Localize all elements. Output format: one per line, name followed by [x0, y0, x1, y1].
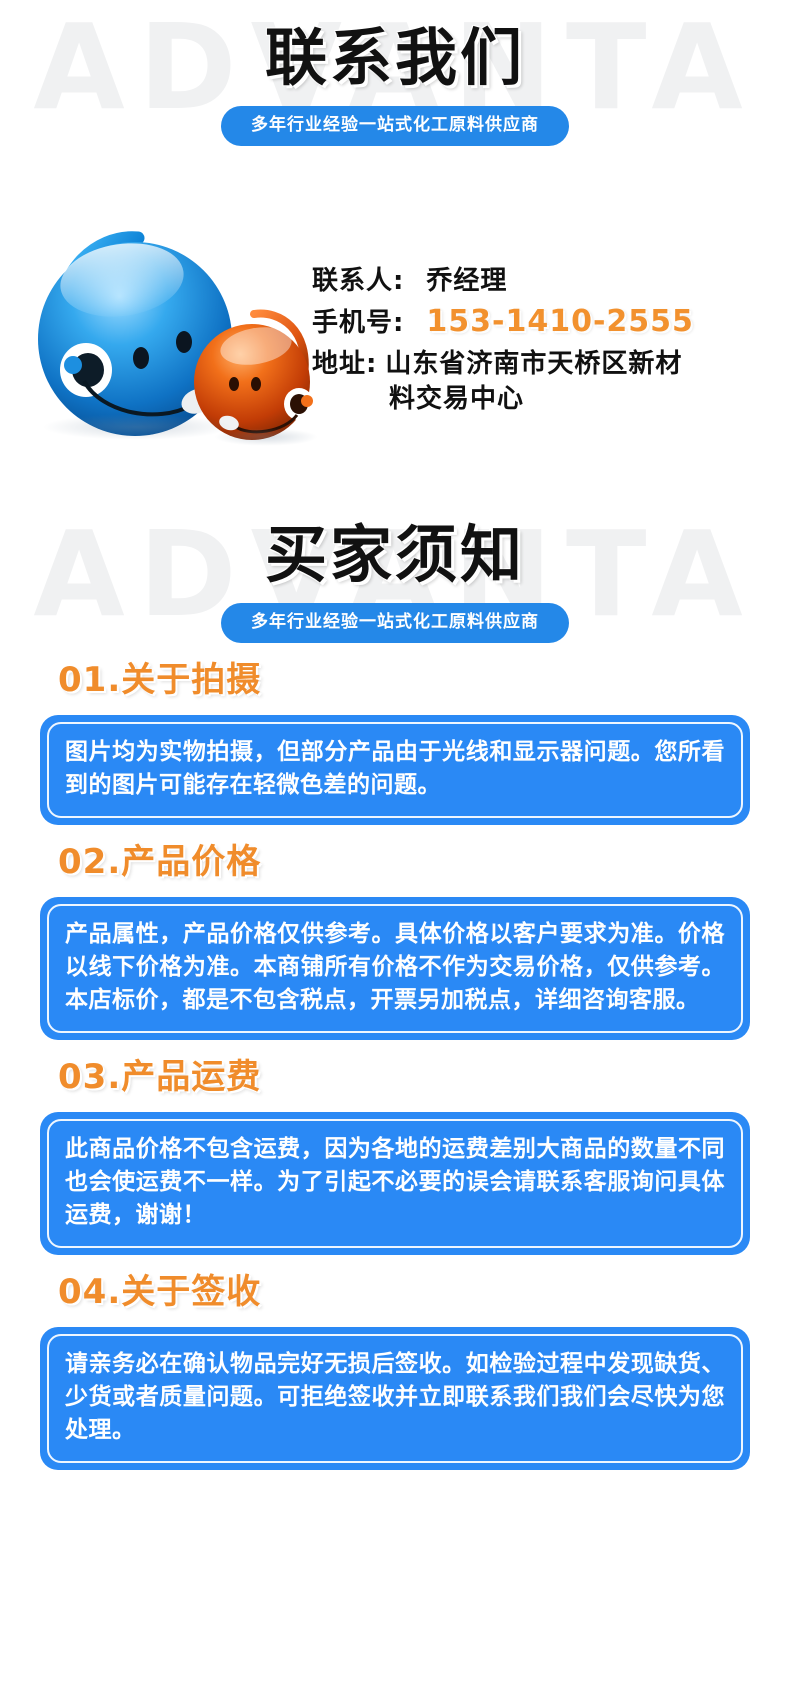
contact-text-lines: 联系人: 乔经理 手机号: 153-1410-2555 地址: 山东省济南市天桥… — [312, 218, 790, 424]
notice-box-04: 请亲务必在确认物品完好无损后签收。如检验过程中发现缺货、少货或者质量问题。可拒绝… — [40, 1327, 750, 1470]
notice-item-02: 02.产品价格 产品属性，产品价格仅供参考。具体价格以客户要求为准。价格以线下价… — [40, 841, 750, 1040]
notice-box-03: 此商品价格不包含运费，因为各地的运费差别大商品的数量不同也会使运费不一样。为了引… — [40, 1112, 750, 1255]
contact-phone-value[interactable]: 153-1410-2555 — [426, 305, 694, 339]
contact-row-address: 地址: 山东省济南市天桥区新材 料交易中心 — [312, 347, 790, 417]
contact-person-value: 乔经理 — [426, 264, 507, 298]
notice-heading-02: 02.产品价格 — [58, 841, 750, 883]
mascot-eye-right-blue — [176, 331, 192, 353]
mascot-shadow-large — [42, 414, 232, 440]
contact-address-line2: 料交易中心 — [389, 381, 790, 417]
buyer-notice-pill-wrap: 多年行业经验一站式化工原料供应商 — [0, 603, 790, 643]
notice-item-04: 04.关于签收 请亲务必在确认物品完好无损后签收。如检验过程中发现缺货、少货或者… — [40, 1271, 750, 1470]
notice-text-01: 图片均为实物拍摄，但部分产品由于光线和显示器问题。您所看到的图片可能存在轻微色差… — [65, 736, 725, 802]
buyer-notice-title: 买家须知 — [0, 479, 790, 589]
notice-box-inner-01: 图片均为实物拍摄，但部分产品由于光线和显示器问题。您所看到的图片可能存在轻微色差… — [47, 722, 743, 818]
contact-address-line1: 山东省济南市天桥区新材 — [385, 347, 682, 381]
notice-box-02: 产品属性，产品价格仅供参考。具体价格以客户要求为准。价格以线下价格为准。本商铺所… — [40, 897, 750, 1040]
notice-item-03: 03.产品运费 此商品价格不包含运费，因为各地的运费差别大商品的数量不同也会使运… — [40, 1056, 750, 1255]
contact-pill-wrap: 多年行业经验一站式化工原料供应商 — [0, 106, 790, 146]
notice-box-01: 图片均为实物拍摄，但部分产品由于光线和显示器问题。您所看到的图片可能存在轻微色差… — [40, 715, 750, 825]
notice-text-04: 请亲务必在确认物品完好无损后签收。如检验过程中发现缺货、少货或者质量问题。可拒绝… — [65, 1348, 725, 1447]
mascot-eye-left-orange — [229, 377, 239, 391]
mascot-group — [18, 218, 318, 448]
headset-earcup-blue — [60, 343, 112, 397]
notice-item-01: 01.关于拍摄 图片均为实物拍摄，但部分产品由于光线和显示器问题。您所看到的图片… — [40, 659, 750, 825]
contact-row-person: 联系人: 乔经理 — [312, 264, 790, 298]
contact-banner: ADVANTA 联系我们 多年行业经验一站式化工原料供应商 — [0, 0, 790, 200]
mascot-eye-left-blue — [133, 347, 149, 369]
contact-address-line1-wrap: 地址: 山东省济南市天桥区新材 — [312, 347, 790, 381]
contact-row-phone: 手机号: 153-1410-2555 — [312, 305, 790, 340]
contact-person-label: 联系人: — [312, 264, 404, 298]
contact-info: 联系人: 乔经理 手机号: 153-1410-2555 地址: 山东省济南市天桥… — [0, 200, 790, 465]
buyer-notice-slogan-pill: 多年行业经验一站式化工原料供应商 — [221, 603, 569, 643]
contact-slogan-pill: 多年行业经验一站式化工原料供应商 — [221, 106, 569, 146]
buyer-notice-banner: ADVANTA 买家须知 多年行业经验一站式化工原料供应商 — [0, 479, 790, 659]
notice-text-03: 此商品价格不包含运费，因为各地的运费差别大商品的数量不同也会使运费不一样。为了引… — [65, 1133, 725, 1232]
contact-phone-label: 手机号: — [312, 306, 404, 340]
promo-page: ADVANTA 联系我们 多年行业经验一站式化工原料供应商 — [0, 0, 790, 1683]
headset-earcup-orange — [284, 388, 314, 420]
contact-address-label: 地址: — [312, 347, 377, 381]
notice-box-inner-03: 此商品价格不包含运费，因为各地的运费差别大商品的数量不同也会使运费不一样。为了引… — [47, 1119, 743, 1248]
mascot-eye-right-orange — [251, 377, 261, 391]
notice-heading-04: 04.关于签收 — [58, 1271, 750, 1313]
notice-heading-03: 03.产品运费 — [58, 1056, 750, 1098]
notice-box-inner-02: 产品属性，产品价格仅供参考。具体价格以客户要求为准。价格以线下价格为准。本商铺所… — [47, 904, 743, 1033]
buyer-notice-list: 01.关于拍摄 图片均为实物拍摄，但部分产品由于光线和显示器问题。您所看到的图片… — [0, 659, 790, 1470]
headset-mascot-illustration — [18, 218, 318, 448]
notice-heading-01: 01.关于拍摄 — [58, 659, 750, 701]
notice-box-inner-04: 请亲务必在确认物品完好无损后签收。如检验过程中发现缺货、少货或者质量问题。可拒绝… — [47, 1334, 743, 1463]
mascot-shadow-small — [214, 428, 318, 446]
contact-title: 联系我们 — [0, 0, 790, 92]
notice-text-02: 产品属性，产品价格仅供参考。具体价格以客户要求为准。价格以线下价格为准。本商铺所… — [65, 918, 725, 1017]
